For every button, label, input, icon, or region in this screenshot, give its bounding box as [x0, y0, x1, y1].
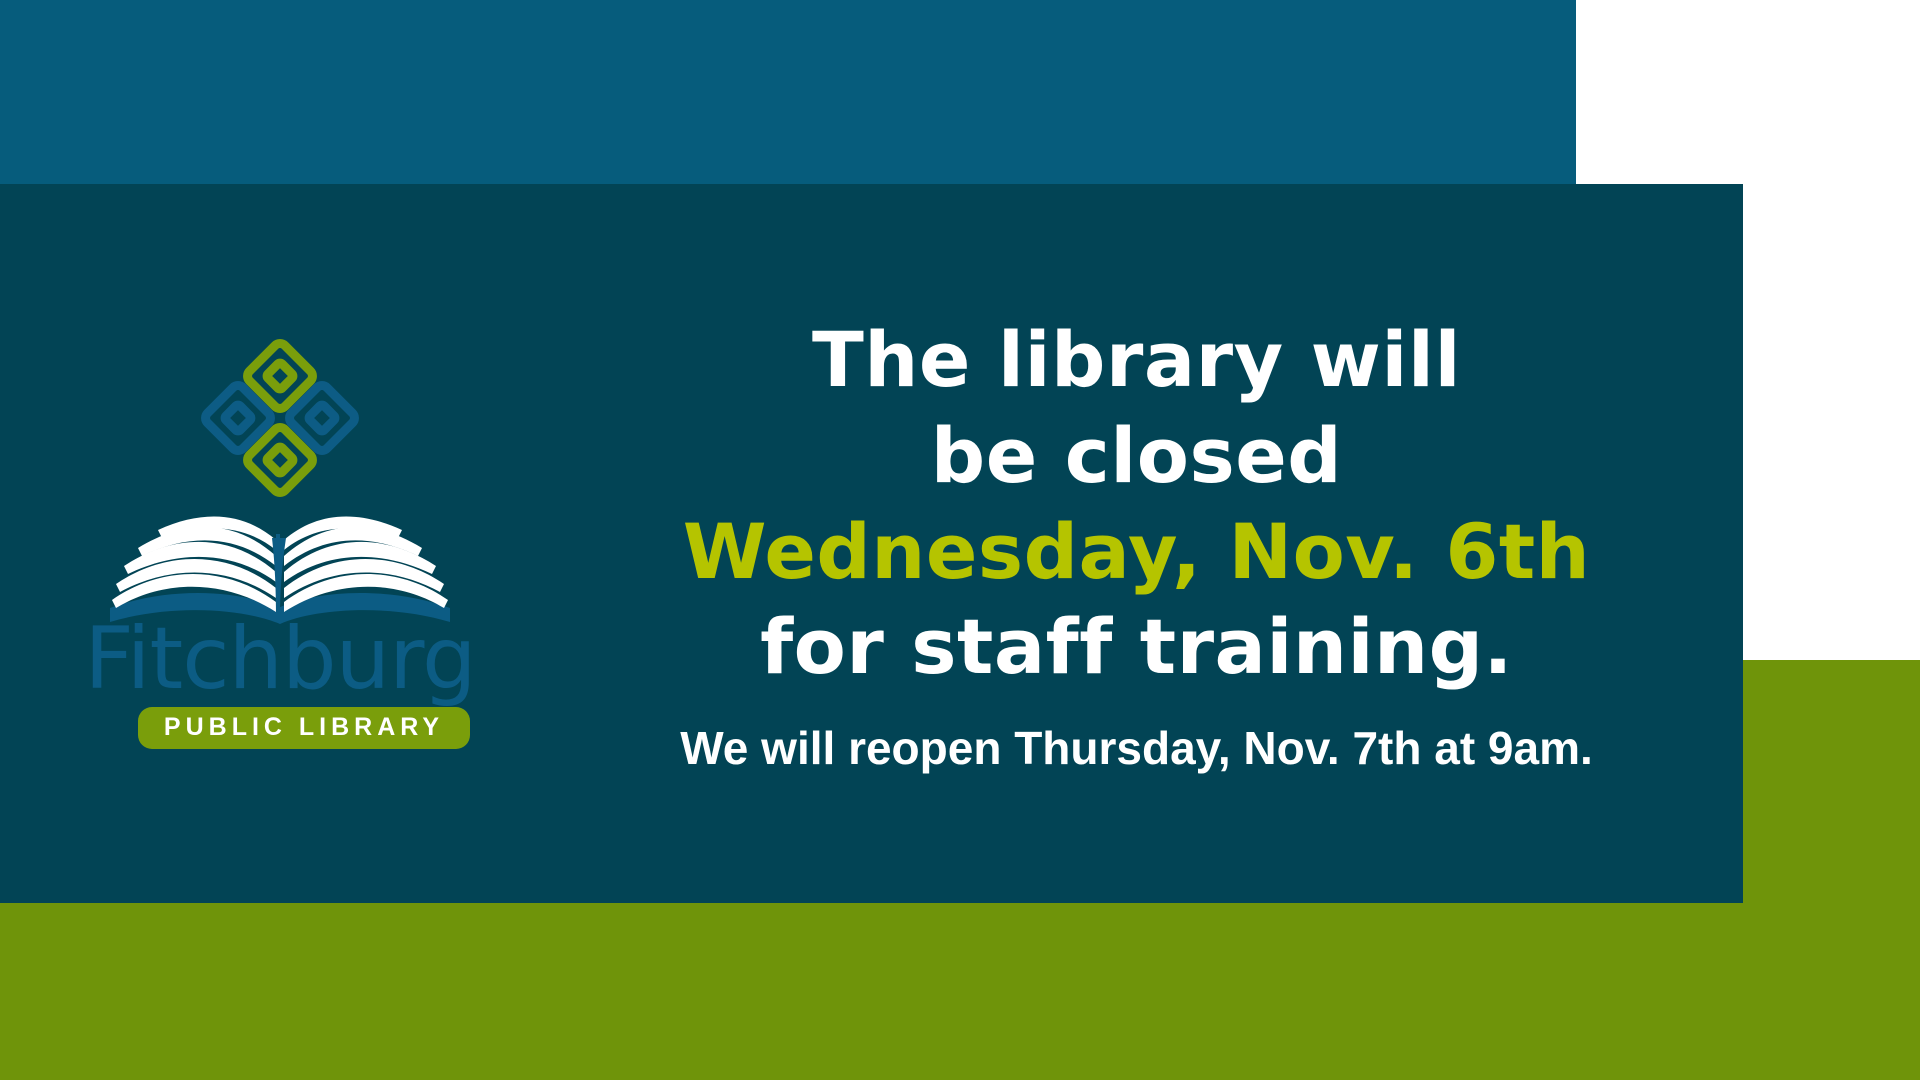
logo-stack: Fitchburg PUBLIC LIBRARY	[80, 338, 480, 749]
message-block: The library will be closed Wednesday, No…	[560, 184, 1743, 903]
top-teal-bar	[0, 0, 1576, 184]
poster-canvas: Fitchburg PUBLIC LIBRARY The library wil…	[0, 0, 1920, 1080]
logo-wordmark: Fitchburg	[80, 618, 480, 701]
badge-row: PUBLIC LIBRARY	[80, 707, 480, 749]
bottom-green-band	[0, 903, 1920, 1080]
right-green-block	[1743, 660, 1920, 1080]
headline-line-3-date: Wednesday, Nov. 6th	[683, 504, 1591, 600]
poster-content: Fitchburg PUBLIC LIBRARY The library wil…	[0, 184, 1743, 903]
public-library-badge: PUBLIC LIBRARY	[138, 707, 470, 749]
headline-line-2: be closed	[931, 408, 1342, 504]
library-logo: Fitchburg PUBLIC LIBRARY	[0, 184, 560, 903]
reopen-subtitle: We will reopen Thursday, Nov. 7th at 9am…	[680, 721, 1593, 775]
four-diamond-ornament-icon	[200, 338, 360, 498]
headline-line-4: for staff training.	[760, 599, 1513, 695]
headline-line-1: The library will	[812, 312, 1461, 408]
